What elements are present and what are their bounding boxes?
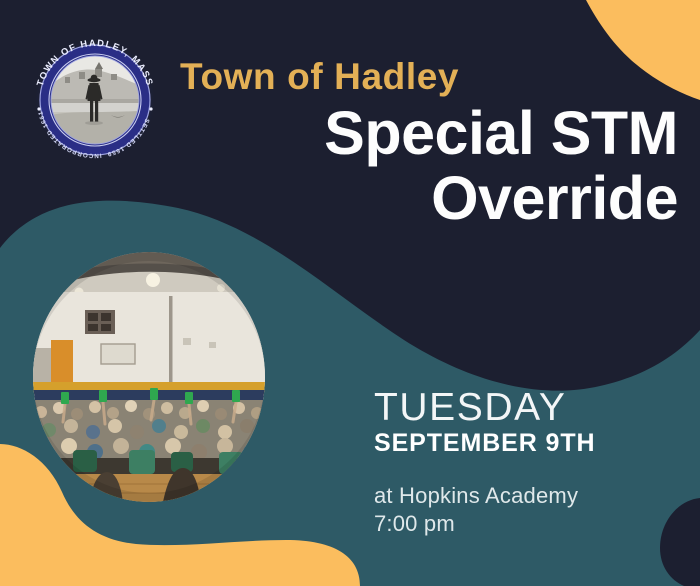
event-time: 7:00 pm — [374, 510, 674, 538]
town-meeting-photo — [33, 252, 265, 502]
poster-canvas: TOWN OF HADLEY, MASS SETTLED 1659 INCORP… — [0, 0, 700, 586]
event-day: TUESDAY — [374, 388, 674, 427]
eyebrow-title: Town of Hadley — [180, 58, 682, 95]
page-title-line-2: Override — [172, 166, 678, 231]
event-date: SEPTEMBER 9TH — [374, 431, 674, 456]
headline-block: Town of Hadley Special STM Override — [172, 58, 682, 230]
page-title: Special STM Override — [172, 101, 682, 230]
town-seal: TOWN OF HADLEY, MASS SETTLED 1659 INCORP… — [23, 33, 168, 168]
event-venue: at Hopkins Academy — [374, 482, 674, 510]
event-details-block: TUESDAY SEPTEMBER 9TH at Hopkins Academy… — [374, 388, 674, 538]
page-title-line-1: Special STM — [172, 101, 678, 166]
